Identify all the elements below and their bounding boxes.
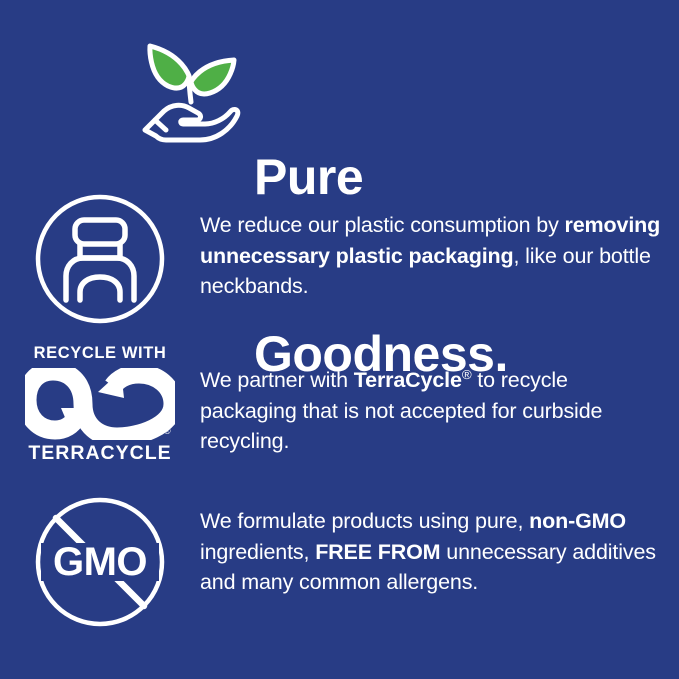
- no-gmo-label: GMO: [53, 540, 147, 584]
- infinity-recycle-arrows-icon: ®: [25, 368, 175, 440]
- copy-segment-bold: FREE FROM: [315, 540, 440, 564]
- terracycle-logo-bottom-label: TERRACYCLE: [28, 444, 171, 464]
- feature-row-gmo: GMO We formulate products using pure, no…: [0, 495, 679, 629]
- copy-segment: We partner with: [200, 368, 354, 392]
- feature-row-terracycle: RECYCLE WITH ® TERRACYCLE We partner wit: [0, 345, 679, 463]
- terracycle-registered-mark: ®: [164, 426, 171, 436]
- feature-row-terracycle-copy: We partner with TerraCycle® to recycle p…: [200, 345, 679, 457]
- bottle-neckband-circle-icon: [33, 192, 167, 326]
- copy-segment-bold: non-GMO: [529, 509, 626, 533]
- feature-row-gmo-icon-slot: GMO: [0, 495, 200, 629]
- copy-segment: ingredients,: [200, 540, 315, 564]
- feature-row-terracycle-icon-slot: RECYCLE WITH ® TERRACYCLE: [0, 345, 200, 463]
- pure-goodness-poster: Pure Goodness. We reduce our plastic: [0, 0, 679, 679]
- feature-row-gmo-copy: We formulate products using pure, non-GM…: [200, 495, 679, 598]
- copy-segment: We formulate products using pure,: [200, 509, 529, 533]
- no-gmo-circle-icon: GMO: [33, 495, 167, 629]
- hand-holding-sprout-icon: [142, 38, 242, 146]
- terracycle-logo-top-label: RECYCLE WITH: [34, 345, 167, 362]
- feature-row-plastic: We reduce our plastic consumption by rem…: [0, 192, 679, 326]
- terracycle-logo: RECYCLE WITH ® TERRACYCLE: [24, 345, 176, 463]
- feature-row-plastic-icon-slot: [0, 192, 200, 326]
- feature-row-plastic-copy: We reduce our plastic consumption by rem…: [200, 192, 679, 302]
- copy-segment-bold: TerraCycle: [354, 368, 462, 392]
- copy-segment: We reduce our plastic consumption by: [200, 213, 565, 237]
